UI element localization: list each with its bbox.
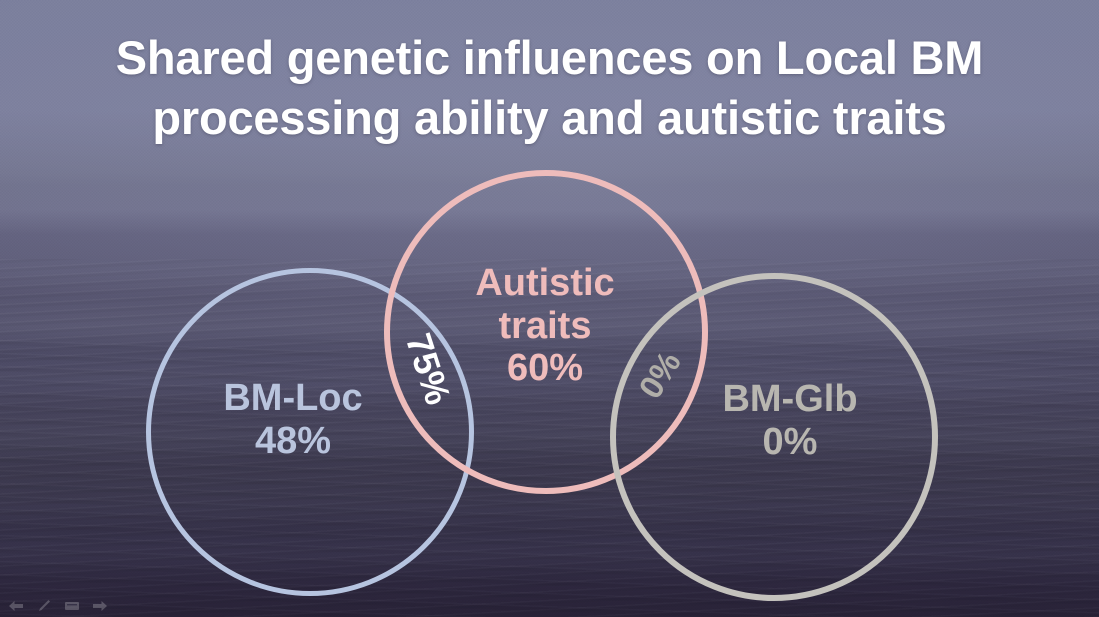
slideshow-controls <box>8 599 108 613</box>
presentation-slide: Shared genetic influences on Local BM pr… <box>0 0 1099 617</box>
slide-menu-icon[interactable] <box>64 599 80 613</box>
venn-label-bm-loc: BM-Loc 48% <box>168 377 418 462</box>
previous-slide-arrow-icon[interactable] <box>8 599 24 613</box>
venn-label-bm-glb: BM-Glb 0% <box>672 378 908 463</box>
pen-icon[interactable] <box>36 599 52 613</box>
next-slide-arrow-icon[interactable] <box>92 599 108 613</box>
venn-label-autistic-traits: Autistic traits 60% <box>425 262 665 390</box>
venn-diagram: BM-Loc 48% Autistic traits 60% BM-Glb 0%… <box>0 0 1099 617</box>
